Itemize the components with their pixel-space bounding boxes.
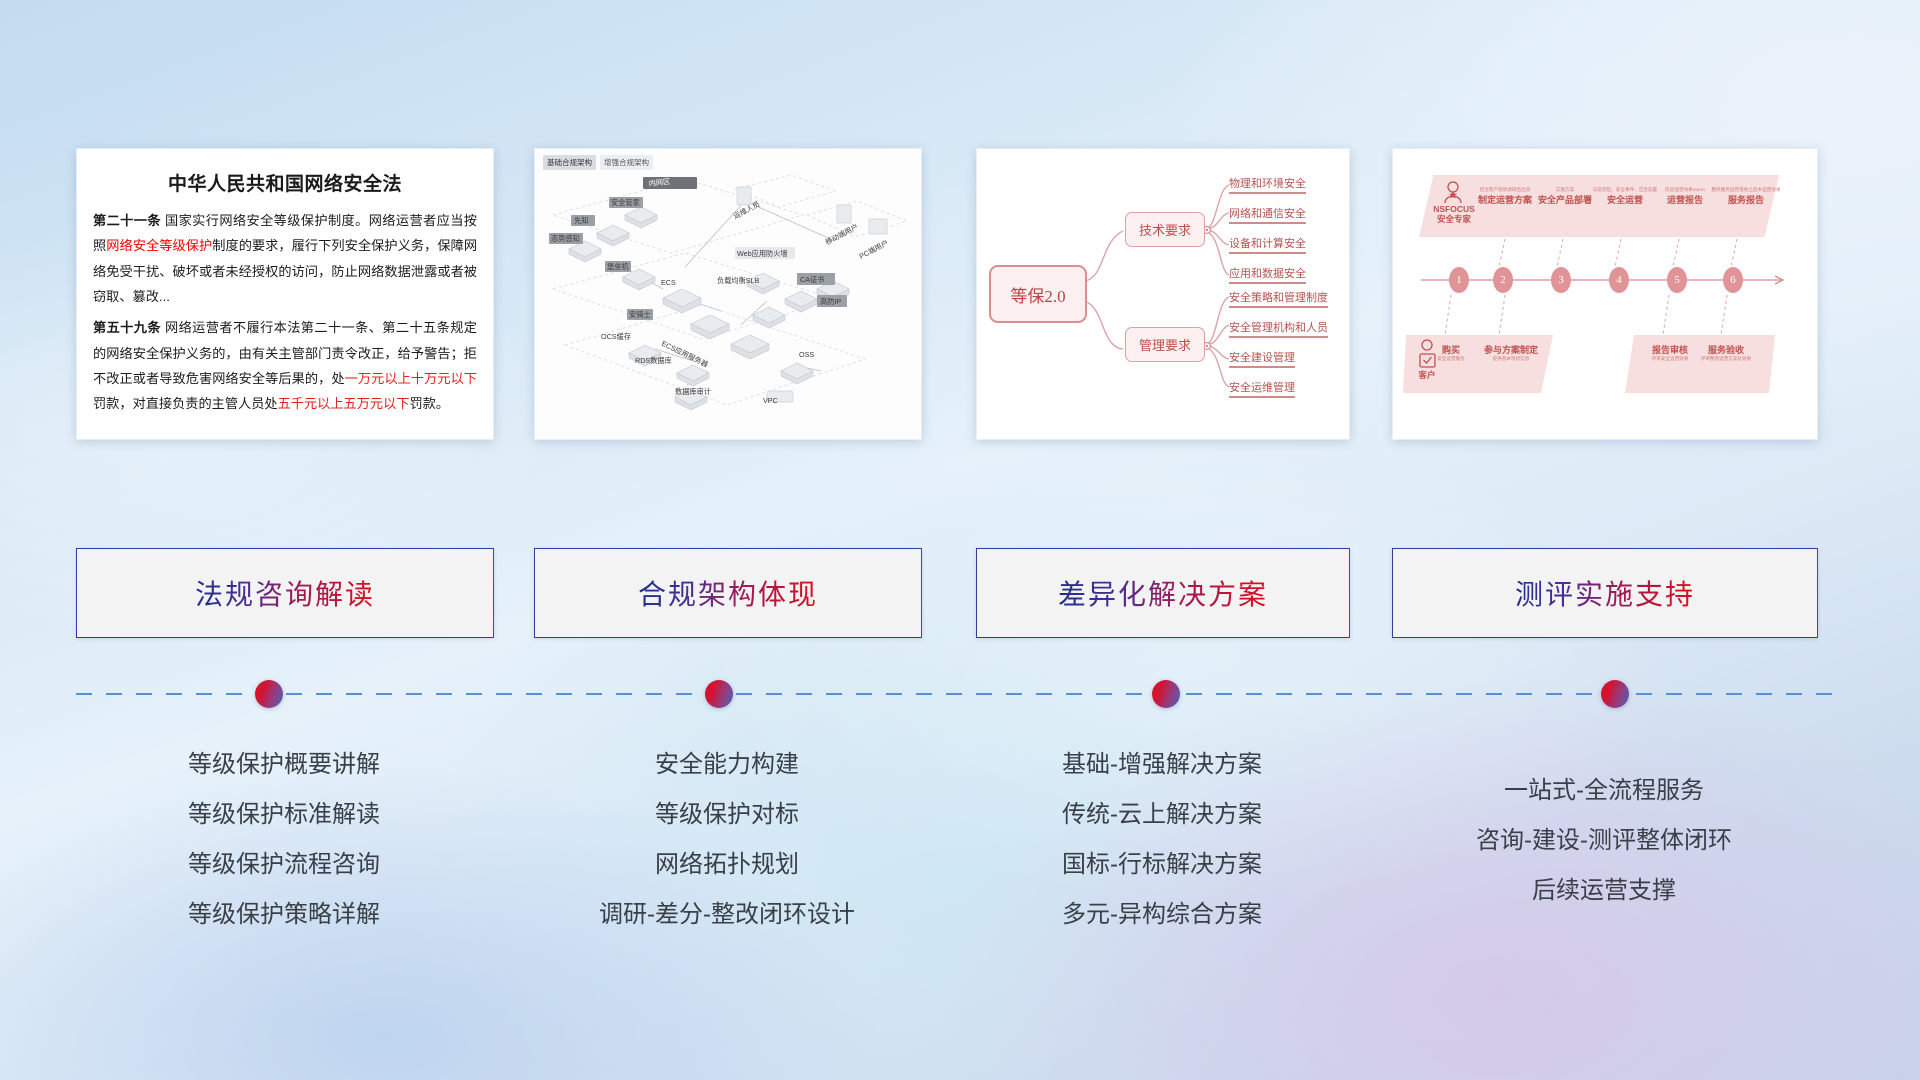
detail-list-1: 等级保护概要讲解 等级保护标准解读 等级保护流程咨询 等级保护策略详解 — [76, 740, 492, 940]
headline-box-assessment-support[interactable]: 测评实施支持 — [1392, 548, 1818, 638]
mindmap-branch-management: 管理要求 — [1125, 327, 1205, 362]
svg-text:先知: 先知 — [574, 216, 588, 225]
list-item: 安全能力构建 — [534, 740, 920, 790]
label-waf: Web应用防火墙 — [737, 249, 788, 258]
rail-dot-1 — [255, 680, 283, 708]
timeline-node-3: 3 — [1551, 267, 1571, 293]
mindmap-core: 等保2.0 — [989, 265, 1087, 323]
slide-content: 中华人民共和国网络安全法 第二十一条 国家实行网络安全等级保护制度。网络运营者应… — [0, 0, 1920, 1080]
card-cloud-architecture: 基础合规架构 增强合规架构 — [534, 148, 922, 440]
law-article-59: 第五十九条 网络运营者不履行本法第二十一条、第二十五条规定的网络安全保护义务的，… — [93, 315, 477, 416]
rail-dot-2 — [705, 680, 733, 708]
mindmap-leaf-construction: 安全建设管理 — [1229, 349, 1295, 368]
rail-dot-4 — [1601, 680, 1629, 708]
detail-list-4: 一站式-全流程服务 咨询-建设-测评整体闭环 后续运营支撑 — [1392, 766, 1816, 916]
card-mindmap-dengbao: 等保2.0 技术要求 物理和环境安全 网络和通信安全 设备和计算安全 应用和数据… — [976, 148, 1350, 440]
headline-title-1: 法规咨询解读 — [195, 573, 375, 613]
svg-text:堡垒机: 堡垒机 — [607, 262, 629, 271]
list-item: 等级保护概要讲解 — [76, 740, 492, 790]
timeline-customer-step-1: 购买 安全运营服务 — [1421, 343, 1481, 362]
timeline-role-customer: 客户 — [1409, 371, 1445, 381]
timeline-role-expert: NSFOCUS 安全专家 — [1427, 205, 1481, 225]
detail-list-3: 基础-增强解决方案 传统-云上解决方案 国标-行标解决方案 多元-异构综合方案 — [976, 740, 1348, 940]
label-rds: RDS数据库 — [635, 356, 672, 365]
label-vpc: VPC — [763, 396, 778, 405]
list-item: 多元-异构综合方案 — [976, 890, 1348, 940]
timeline-node-2: 2 — [1493, 267, 1513, 293]
svg-text:PC端用户: PC端用户 — [858, 238, 890, 261]
law-article-59-post: 罚款。 — [410, 396, 450, 411]
law-article-59-highlight-1: 一万元以上十万元以下 — [345, 371, 477, 386]
headline-box-compliance-architecture[interactable]: 合规架构体现 — [534, 548, 922, 638]
svg-text:高防IP: 高防IP — [820, 297, 841, 306]
card-service-timeline: NSFOCUS 安全专家 客户 结合客户现状调研后出具 制定运营方案 实施方案 … — [1392, 148, 1818, 440]
timeline-customer-step-4-sub: 评审整改运营方案化效果 — [1693, 356, 1759, 362]
timeline-customer-step-4-title: 服务验收 — [1693, 343, 1759, 356]
headline-row: 法规咨询解读 合规架构体现 差异化解决方案 测评实施支持 — [0, 548, 1920, 640]
architecture-diagram: 基础合规架构 增强合规架构 — [535, 149, 921, 439]
law-title: 中华人民共和国网络安全法 — [93, 169, 477, 196]
timeline-customer-step-4: 服务验收 评审整改运营方案化效果 — [1693, 343, 1759, 362]
timeline-node-1: 1 — [1449, 267, 1469, 293]
svg-text:安全管家: 安全管家 — [611, 198, 640, 207]
svg-text:安骑士: 安骑士 — [629, 310, 651, 319]
card-cybersecurity-law: 中华人民共和国网络安全法 第二十一条 国家实行网络安全等级保护制度。网络运营者应… — [76, 148, 494, 440]
label-ecs: ECS — [661, 278, 676, 287]
list-item: 咨询-建设-测评整体闭环 — [1392, 816, 1816, 866]
list-item: 网络拓扑规划 — [534, 840, 920, 890]
list-item: 传统-云上解决方案 — [976, 790, 1348, 840]
mindmap-leaf-device: 设备和计算安全 — [1229, 235, 1306, 254]
law-article-59-label: 第五十九条 — [93, 320, 161, 335]
list-item: 等级保护对标 — [534, 790, 920, 840]
list-item: 等级保护流程咨询 — [76, 840, 492, 890]
headline-title-4: 测评实施支持 — [1515, 573, 1695, 613]
headline-box-regulation-consulting[interactable]: 法规咨询解读 — [76, 548, 494, 638]
law-article-59-mid: 罚款，对直接负责的主管人员处 — [93, 396, 278, 411]
timeline-customer-step-2: 参与方案制定 提供基本现状信息 — [1475, 343, 1547, 362]
mindmap-leaf-application: 应用和数据安全 — [1229, 265, 1306, 284]
timeline-customer-step-2-sub: 提供基本现状信息 — [1475, 356, 1547, 362]
law-article-21-label: 第二十一条 — [93, 213, 161, 228]
timeline-customer-step-1-title: 购买 — [1421, 343, 1481, 356]
mindmap-branch-technical: 技术要求 — [1125, 212, 1205, 247]
timeline-rail — [76, 693, 1836, 695]
svg-text:态势感知: 态势感知 — [551, 234, 580, 243]
mindmap-leaf-network: 网络和通信安全 — [1229, 205, 1306, 224]
svg-text:CA证书: CA证书 — [800, 275, 824, 284]
label-dbaudit: 数据库审计 — [675, 387, 711, 396]
timeline-node-6: 6 — [1723, 267, 1743, 293]
headline-title-3: 差异化解决方案 — [1058, 573, 1268, 613]
timeline-expert-step-5-title: 服务报告 — [1703, 193, 1789, 206]
law-article-21: 第二十一条 国家实行网络安全等级保护制度。网络运营者应当按照网络安全等级保护制度… — [93, 208, 477, 309]
label-slb: 负载均衡SLB — [717, 276, 760, 285]
list-item: 国标-行标解决方案 — [976, 840, 1348, 890]
service-timeline: NSFOCUS 安全专家 客户 结合客户现状调研后出具 制定运营方案 实施方案 … — [1393, 149, 1817, 439]
detail-list-2: 安全能力构建 等级保护对标 网络拓扑规划 调研-差分-整改闭环设计 — [534, 740, 920, 940]
timeline-role-expert-line2: 安全专家 — [1427, 215, 1481, 225]
law-article-21-highlight: 网络安全等级保护 — [106, 238, 212, 253]
list-item: 调研-差分-整改闭环设计 — [534, 890, 920, 940]
mindmap-leaf-org: 安全管理机构和人员 — [1229, 319, 1328, 338]
list-item: 等级保护策略详解 — [76, 890, 492, 940]
headline-title-2: 合规架构体现 — [638, 573, 818, 613]
law-article-59-highlight-2: 五千元以上五万元以下 — [278, 396, 410, 411]
timeline-node-4: 4 — [1609, 267, 1629, 293]
label-ocs: OCS缓存 — [601, 332, 631, 341]
rail-dot-3 — [1152, 680, 1180, 708]
law-document: 中华人民共和国网络安全法 第二十一条 国家实行网络安全等级保护制度。网络运营者应… — [77, 149, 493, 439]
list-item: 基础-增强解决方案 — [976, 740, 1348, 790]
mindmap: 等保2.0 技术要求 物理和环境安全 网络和通信安全 设备和计算安全 应用和数据… — [977, 149, 1349, 439]
mindmap-leaf-physical: 物理和环境安全 — [1229, 175, 1306, 194]
image-card-row: 中华人民共和国网络安全法 第二十一条 国家实行网络安全等级保护制度。网络运营者应… — [0, 148, 1920, 438]
timeline-expert-step-5: 整改服务运营落地之后本运营效果 服务报告 — [1703, 187, 1789, 206]
architecture-svg: 内网区 态势感知 先知 安全管家 堡垒机 安骑士 ECS OCS缓存 RDS数据… — [535, 149, 921, 439]
list-item: 后续运营支撑 — [1392, 866, 1816, 916]
list-item: 等级保护标准解读 — [76, 790, 492, 840]
timeline-node-5: 5 — [1667, 267, 1687, 293]
list-item: 一站式-全流程服务 — [1392, 766, 1816, 816]
mindmap-leaf-policy: 安全策略和管理制度 — [1229, 289, 1328, 308]
mindmap-leaf-operation: 安全运维管理 — [1229, 379, 1295, 398]
headline-box-differentiated-solution[interactable]: 差异化解决方案 — [976, 548, 1350, 638]
label-oss: OSS — [799, 350, 814, 359]
timeline-customer-step-2-title: 参与方案制定 — [1475, 343, 1547, 356]
timeline-customer-step-1-sub: 安全运营服务 — [1421, 356, 1481, 362]
